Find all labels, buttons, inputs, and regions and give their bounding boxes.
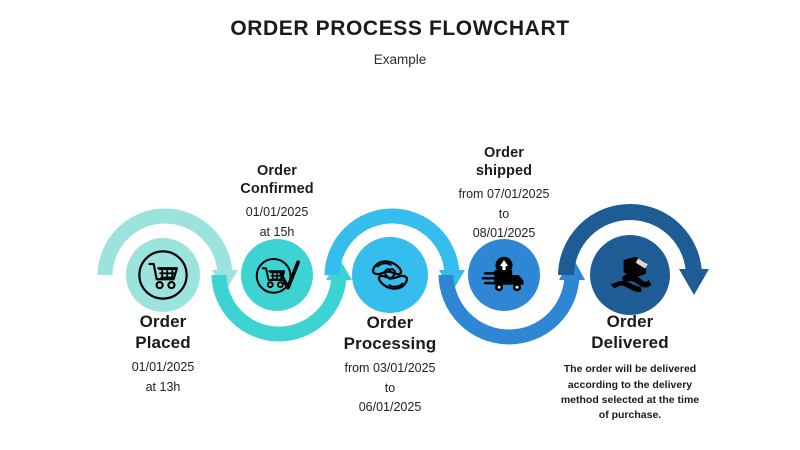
step-label-2: Order Confirmed 01/01/2025 at 15h [197, 163, 357, 242]
step-label-5: Order Delivered The order will be delive… [538, 312, 723, 423]
step-description-5: The order will be delivered according to… [538, 362, 723, 423]
step-title-5: Order Delivered [538, 312, 723, 353]
flowchart-canvas: ORDER PROCESS FLOWCHART Example [0, 0, 800, 450]
step-icon-circle-4 [468, 239, 540, 311]
step-icon-circle-3 [352, 237, 428, 313]
step-meta-1: 01/01/2025 at 13h [83, 358, 243, 397]
step-title-1: Order Placed [83, 312, 243, 353]
cart-check-icon [250, 248, 304, 302]
step-title-4: Order shipped [419, 145, 589, 180]
step-icon-circle-2 [241, 239, 313, 311]
step-title-3: Order Processing [303, 313, 478, 354]
delivery-truck-icon [478, 249, 530, 301]
step-meta-2: 01/01/2025 at 15h [197, 203, 357, 242]
package-handover-icon [603, 248, 658, 303]
step-label-1: Order Placed 01/01/2025 at 13h [83, 312, 243, 397]
step-icon-circle-5 [590, 235, 670, 315]
step-meta-3: from 03/01/2025 to 06/01/2025 [303, 359, 478, 417]
shopping-cart-icon [136, 248, 190, 302]
step-label-4: Order shipped from 07/01/2025 to 08/01/2… [419, 145, 589, 244]
step-meta-4: from 07/01/2025 to 08/01/2025 [419, 185, 589, 243]
step-label-3: Order Processing from 03/01/2025 to 06/0… [303, 313, 478, 418]
step-icon-circle-1 [126, 238, 200, 312]
hands-heart-care-icon [363, 248, 417, 302]
step-title-2: Order Confirmed [197, 163, 357, 198]
